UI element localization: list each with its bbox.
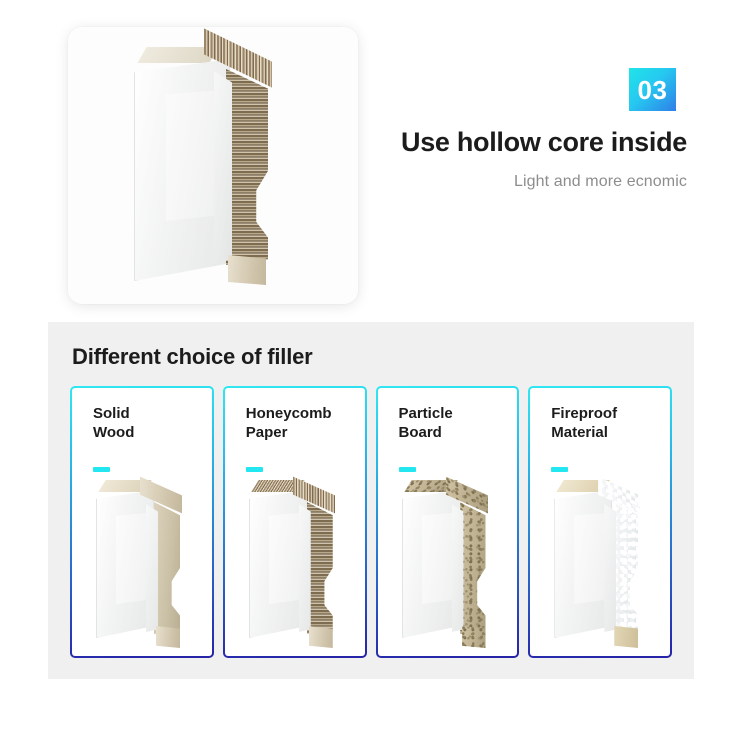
filler-card-list: Solid Wood — [70, 386, 672, 658]
filler-card-particle-board[interactable]: Particle Board — [376, 386, 520, 658]
filler-card-photo — [380, 478, 516, 654]
filler-card-label: Solid Wood — [93, 404, 134, 442]
hero-door-photo — [68, 27, 358, 304]
card-inner: Fireproof Material — [532, 390, 668, 654]
product-feature-page: 03 Use hollow core inside Light and more… — [0, 0, 750, 750]
door-bottom-rail — [309, 626, 333, 648]
filler-card-honeycomb-paper[interactable]: Honeycomb Paper — [223, 386, 367, 658]
filler-card-photo — [227, 478, 363, 654]
accent-dash-icon — [551, 467, 568, 472]
door-bottom-rail — [156, 626, 180, 648]
card-inner: Honeycomb Paper — [227, 390, 363, 654]
door-illustration-solid-wood — [84, 480, 208, 652]
door-edge-bevel — [604, 504, 616, 632]
page-subtitle: Light and more ecnomic — [514, 173, 687, 191]
filler-card-label: Particle Board — [399, 404, 453, 442]
card-inner: Particle Board — [380, 390, 516, 654]
page-title: Use hollow core inside — [401, 127, 687, 158]
door-edge-bevel — [146, 504, 158, 632]
filler-card-label: Fireproof Material — [551, 404, 617, 442]
filler-options-panel: Different choice of filler Solid Wood — [48, 322, 694, 679]
filler-section-title: Different choice of filler — [72, 344, 313, 370]
accent-dash-icon — [246, 467, 263, 472]
filler-card-photo — [74, 478, 210, 654]
filler-card-fireproof-material[interactable]: Fireproof Material — [528, 386, 672, 658]
door-edge-bevel — [214, 71, 232, 263]
accent-dash-icon — [399, 467, 416, 472]
filler-card-label: Honeycomb Paper — [246, 404, 332, 442]
door-edge-bevel — [299, 504, 311, 632]
door-illustration-fireproof — [542, 480, 666, 652]
step-number-badge: 03 — [629, 68, 676, 111]
door-illustration-honeycomb — [237, 480, 361, 652]
card-inner: Solid Wood — [74, 390, 210, 654]
door-bottom-rail — [462, 626, 486, 648]
door-bottom-rail — [614, 626, 638, 648]
door-illustration-particle-board — [390, 480, 514, 652]
door-bottom-rail — [228, 255, 266, 285]
accent-dash-icon — [93, 467, 110, 472]
filler-card-photo — [532, 478, 668, 654]
hero-door-illustration — [104, 41, 324, 296]
door-edge-bevel — [452, 504, 464, 632]
door-core-honeycomb-edge — [226, 69, 268, 265]
filler-card-solid-wood[interactable]: Solid Wood — [70, 386, 214, 658]
hero-image-card — [68, 27, 358, 304]
